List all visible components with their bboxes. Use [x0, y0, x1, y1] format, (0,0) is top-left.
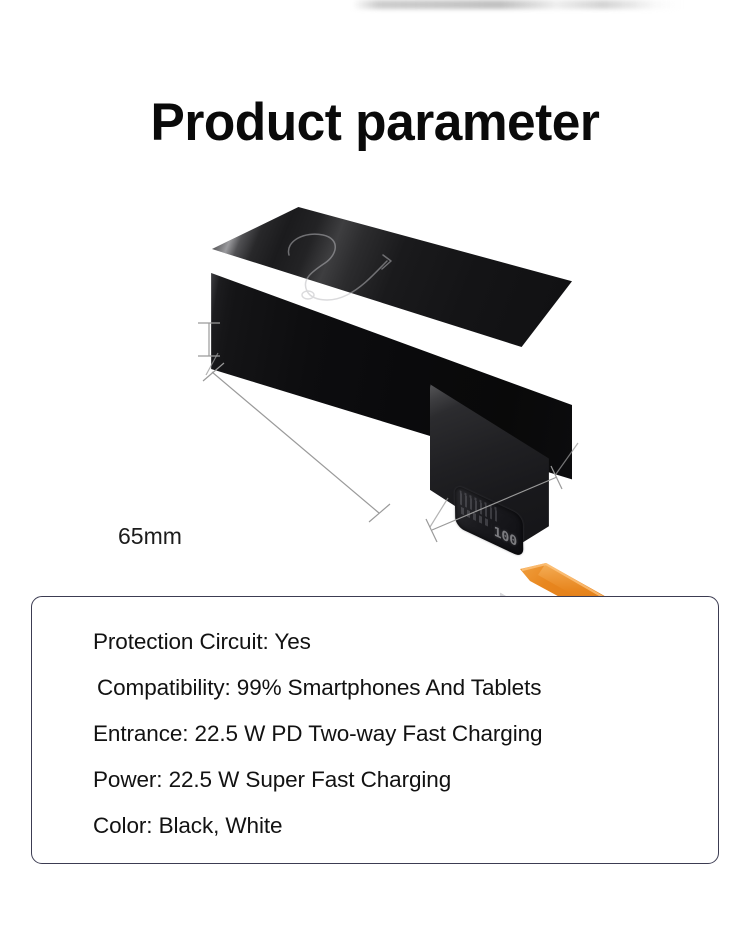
display-percent-value: 100	[494, 524, 518, 550]
spec-row-compatibility: Compatibility: 99% Smartphones And Table…	[93, 677, 718, 700]
product-illustration: 100	[0, 195, 750, 575]
spec-row-entrance: Entrance: 22.5 W PD Two-way Fast Chargin…	[93, 723, 718, 746]
specification-box: Protection Circuit: Yes Compatibility: 9…	[31, 596, 719, 864]
specification-list: Protection Circuit: Yes Compatibility: 9…	[32, 597, 718, 863]
product-parameter-page: Product parameter 100	[0, 0, 750, 933]
dimension-height-label: 65mm	[118, 523, 182, 550]
spec-row-power: Power: 22.5 W Super Fast Charging	[93, 769, 718, 792]
top-edge-artifact	[352, 0, 682, 9]
power-bank-body: 100	[0, 195, 750, 575]
page-title: Product parameter	[11, 92, 739, 153]
spec-row-protection-circuit: Protection Circuit: Yes	[93, 631, 718, 654]
spec-row-color: Color: Black, White	[93, 815, 718, 838]
